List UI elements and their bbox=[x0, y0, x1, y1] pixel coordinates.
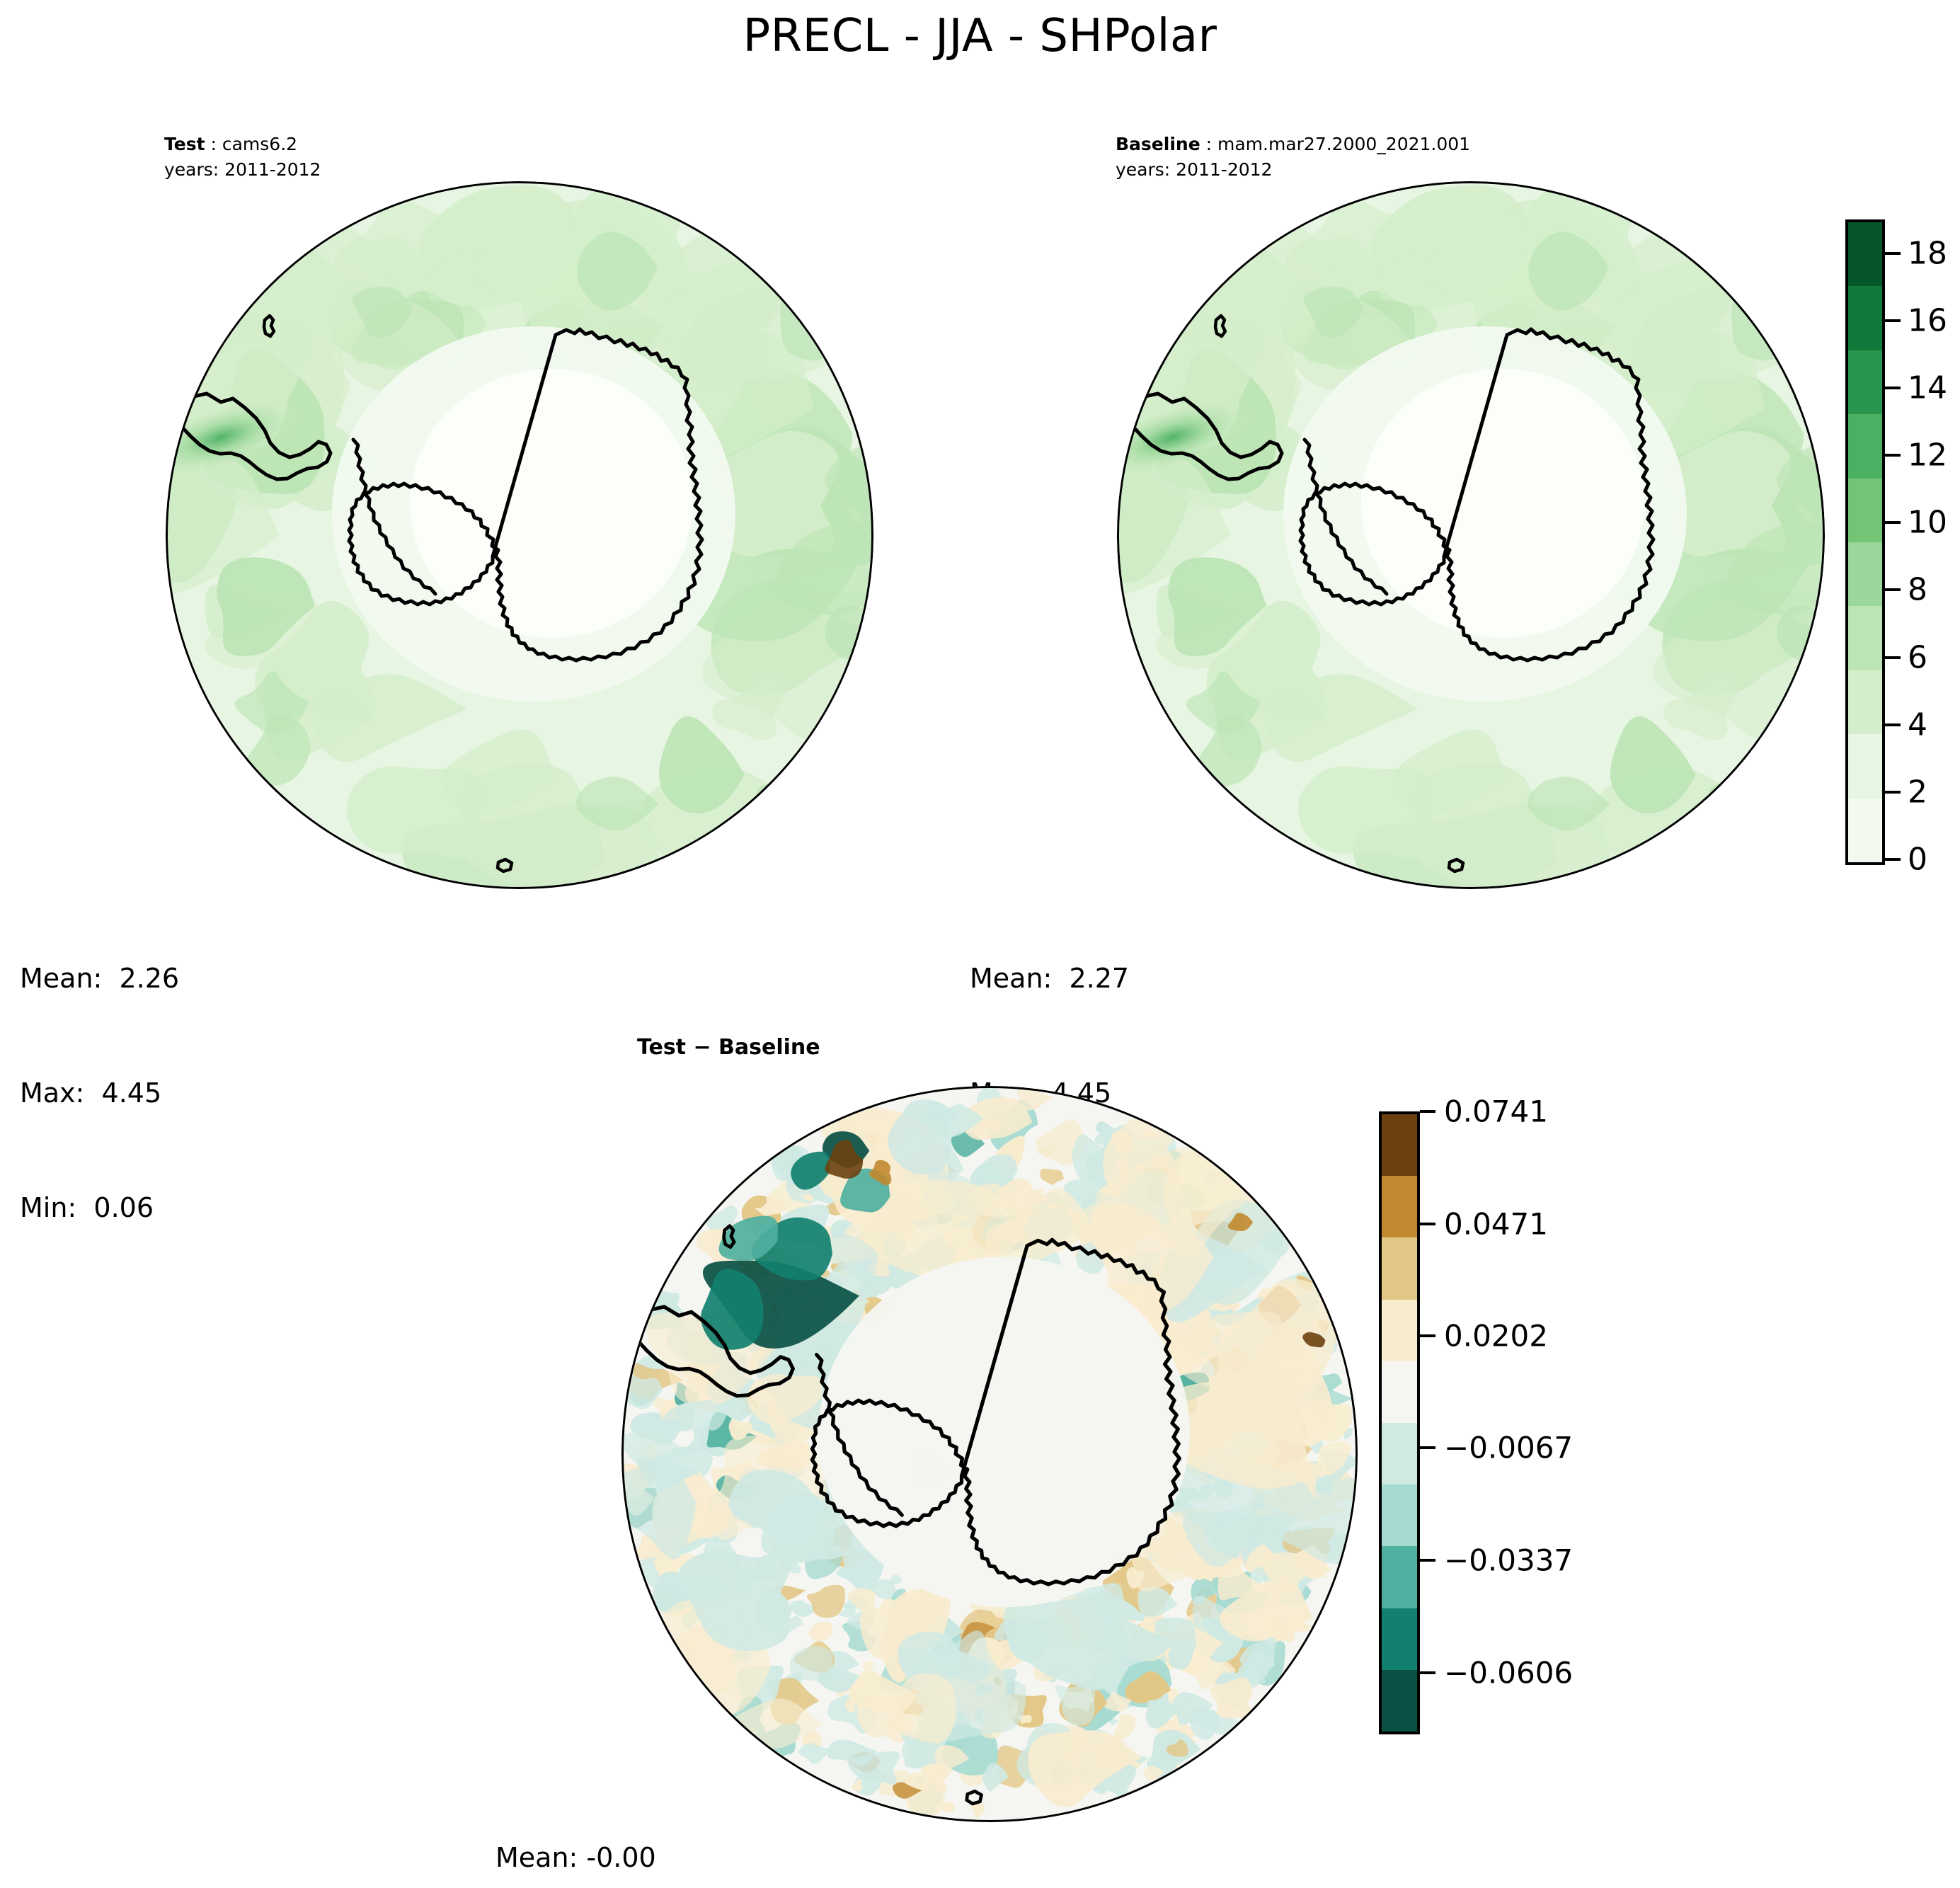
colorbar-tick-label: 16 bbox=[1908, 302, 1947, 338]
difference-panel-title: Test − Baseline bbox=[637, 1035, 820, 1060]
test-label-strong: Test bbox=[164, 134, 205, 154]
baseline-years-line: years: 2011-2012 bbox=[1116, 157, 1470, 183]
baseline-panel-label-line: Baseline : mam.mar27.2000_2021.001 bbox=[1116, 132, 1470, 157]
stats-difference: Mean: -0.00 Max: 0.03 Min: -0.03 bbox=[495, 1763, 656, 1888]
colorbar-tick-label: 6 bbox=[1908, 639, 1927, 675]
stats-test-mean: Mean: 2.26 bbox=[20, 960, 179, 998]
colorbar-tick-label: 0 bbox=[1908, 842, 1927, 878]
baseline-label-strong: Baseline bbox=[1116, 134, 1200, 154]
stats-difference-mean: Mean: -0.00 bbox=[495, 1839, 656, 1877]
test-label-sep: : bbox=[205, 134, 222, 154]
map-field-test bbox=[166, 181, 873, 889]
stats-baseline-mean: Mean: 2.27 bbox=[970, 960, 1129, 998]
colorbar-tick-mark bbox=[1885, 454, 1901, 457]
colorbar-tick-mark bbox=[1885, 791, 1901, 794]
stats-test-max: Max: 4.45 bbox=[20, 1075, 179, 1113]
colorbar-tick-mark bbox=[1420, 1223, 1435, 1225]
stats-test: Mean: 2.26 Max: 4.45 Min: 0.06 bbox=[20, 883, 179, 1303]
colorbar-main[interactable]: 024681012141618 bbox=[1845, 219, 1960, 865]
baseline-panel-header: Baseline : mam.mar27.2000_2021.001 years… bbox=[1116, 132, 1470, 182]
colorbar-tick-label: −0.0337 bbox=[1444, 1543, 1573, 1578]
colorbar-tick-mark bbox=[1420, 1559, 1435, 1562]
colorbar-tick-label: 2 bbox=[1908, 774, 1927, 810]
colorbar-tick-label: −0.0067 bbox=[1444, 1431, 1573, 1465]
colorbar-difference-ticks: 0.07410.04710.0202−0.0067−0.0337−0.0606 bbox=[1379, 1111, 1662, 1734]
map-clip-test bbox=[166, 181, 873, 889]
map-field-baseline bbox=[1117, 181, 1825, 889]
colorbar-tick-mark bbox=[1885, 656, 1901, 659]
colorbar-tick-mark bbox=[1885, 858, 1901, 861]
colorbar-tick-mark bbox=[1885, 387, 1901, 389]
colorbar-tick-mark bbox=[1420, 1334, 1435, 1337]
map-panel-test[interactable] bbox=[166, 181, 873, 889]
colorbar-tick-mark bbox=[1885, 723, 1901, 726]
colorbar-tick-mark bbox=[1420, 1110, 1435, 1113]
colorbar-tick-label: 4 bbox=[1908, 706, 1927, 743]
map-clip-difference bbox=[621, 1086, 1358, 1822]
colorbar-tick-label: −0.0606 bbox=[1444, 1655, 1573, 1690]
test-label-value: cams6.2 bbox=[222, 134, 297, 154]
stats-test-min: Min: 0.06 bbox=[20, 1189, 179, 1228]
map-clip-baseline bbox=[1117, 181, 1825, 889]
colorbar-tick-label: 0.0471 bbox=[1444, 1206, 1548, 1241]
colorbar-tick-mark bbox=[1885, 521, 1901, 524]
map-panel-difference[interactable] bbox=[621, 1086, 1358, 1822]
colorbar-tick-label: 0.0741 bbox=[1444, 1094, 1548, 1129]
colorbar-tick-label: 10 bbox=[1908, 505, 1947, 541]
test-years-line: years: 2011-2012 bbox=[164, 157, 321, 183]
colorbar-tick-label: 18 bbox=[1908, 235, 1947, 271]
map-panel-baseline[interactable] bbox=[1117, 181, 1825, 889]
map-field-difference bbox=[621, 1086, 1358, 1822]
colorbar-tick-label: 12 bbox=[1908, 437, 1947, 474]
baseline-label-sep: : bbox=[1200, 134, 1217, 154]
colorbar-tick-label: 0.0202 bbox=[1444, 1319, 1548, 1354]
colorbar-tick-mark bbox=[1420, 1446, 1435, 1449]
page-title: PRECL - JJA - SHPolar bbox=[0, 10, 1960, 62]
colorbar-main-ticks: 024681012141618 bbox=[1845, 219, 1960, 865]
colorbar-tick-label: 14 bbox=[1908, 370, 1947, 406]
colorbar-difference[interactable]: 0.07410.04710.0202−0.0067−0.0337−0.0606 bbox=[1379, 1111, 1662, 1734]
test-panel-label-line: Test : cams6.2 bbox=[164, 132, 321, 157]
colorbar-tick-mark bbox=[1885, 588, 1901, 591]
baseline-label-value: mam.mar27.2000_2021.001 bbox=[1217, 134, 1470, 154]
colorbar-tick-mark bbox=[1885, 252, 1901, 255]
colorbar-tick-mark bbox=[1885, 319, 1901, 322]
figure-canvas: PRECL - JJA - SHPolar Test : cams6.2 yea… bbox=[0, 0, 1960, 1888]
test-panel-header: Test : cams6.2 years: 2011-2012 bbox=[164, 132, 321, 182]
colorbar-tick-mark bbox=[1420, 1671, 1435, 1674]
colorbar-tick-label: 8 bbox=[1908, 572, 1927, 608]
